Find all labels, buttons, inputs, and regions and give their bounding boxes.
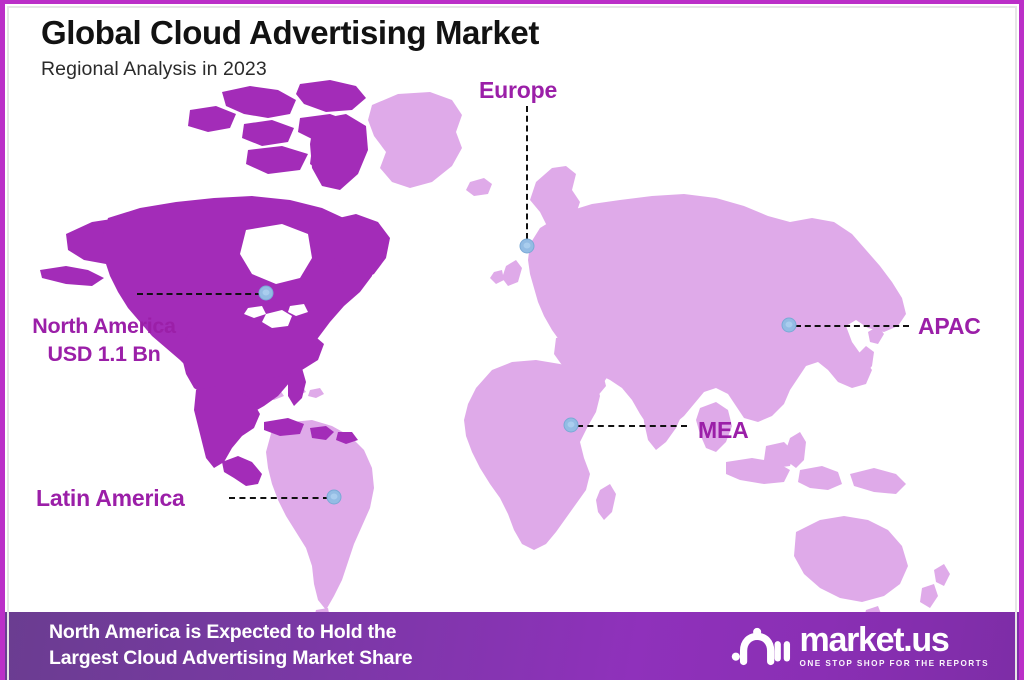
- header-block: Global Cloud Advertising Market Regional…: [41, 14, 539, 81]
- region-madagascar: [596, 484, 616, 520]
- region-new-guinea: [850, 468, 906, 494]
- na-arctic-3: [188, 106, 236, 132]
- brand-logo[interactable]: market.us ONE STOP SHOP FOR THE REPORTS: [731, 624, 989, 669]
- brand-logo-text: market.us ONE STOP SHOP FOR THE REPORTS: [800, 624, 989, 669]
- footer-headline-line1: North America is Expected to Hold the: [49, 620, 412, 646]
- region-indonesia-2: [798, 466, 842, 490]
- region-new-zealand-south: [920, 584, 938, 608]
- leader-line-latin-america: [229, 497, 329, 499]
- region-iceland: [466, 178, 492, 196]
- region-uk: [502, 260, 522, 286]
- region-greenland: [368, 92, 462, 188]
- leader-line-mea: [577, 425, 687, 427]
- market-us-logo-mark-icon: [731, 625, 791, 667]
- footer-headline-line2: Largest Cloud Advertising Market Share: [49, 646, 412, 672]
- page-subtitle: Regional Analysis in 2023: [41, 58, 539, 81]
- region-label-north-america-value: USD 1.1 Bn: [8, 341, 200, 369]
- region-label-mea: MEA: [698, 417, 749, 444]
- region-south-america: [266, 420, 374, 610]
- na-cuba: [264, 418, 304, 436]
- region-label-apac: APAC: [918, 313, 981, 340]
- map-regions-default: [266, 92, 950, 615]
- brand-tagline: ONE STOP SHOP FOR THE REPORTS: [800, 659, 989, 668]
- region-label-europe: Europe: [479, 77, 557, 104]
- region-label-latin-america: Latin America: [36, 485, 185, 512]
- footer-banner: North America is Expected to Hold the La…: [0, 612, 1024, 680]
- region-new-zealand: [934, 564, 950, 586]
- na-central-america: [222, 456, 262, 486]
- infographic-canvas: Global Cloud Advertising Market Regional…: [0, 0, 1024, 680]
- marker-mea[interactable]: [564, 418, 579, 433]
- region-label-north-america: North America USD 1.1 Bn: [8, 313, 200, 368]
- region-ireland: [490, 270, 504, 284]
- marker-europe[interactable]: [520, 239, 535, 254]
- na-florida: [288, 368, 306, 406]
- marker-apac[interactable]: [782, 318, 797, 333]
- na-arctic-4: [242, 120, 294, 146]
- map-region-north-america-highlight: [40, 80, 390, 486]
- region-africa: [464, 360, 600, 550]
- na-arctic-2: [296, 80, 366, 112]
- na-arctic-6: [246, 146, 308, 174]
- region-label-north-america-name: North America: [8, 313, 200, 341]
- leader-line-europe: [526, 106, 528, 239]
- region-caribbean-3: [308, 388, 324, 398]
- page-title: Global Cloud Advertising Market: [41, 14, 539, 52]
- na-aleutians: [40, 266, 104, 286]
- marker-north-america[interactable]: [259, 286, 274, 301]
- marker-latin-america[interactable]: [327, 490, 342, 505]
- brand-name: market.us: [800, 624, 989, 657]
- region-australia: [794, 516, 908, 602]
- leader-line-apac: [795, 325, 909, 327]
- footer-headline: North America is Expected to Hold the La…: [49, 620, 412, 671]
- na-baffin: [310, 114, 368, 190]
- leader-line-north-america: [137, 293, 261, 295]
- region-india: [642, 376, 686, 450]
